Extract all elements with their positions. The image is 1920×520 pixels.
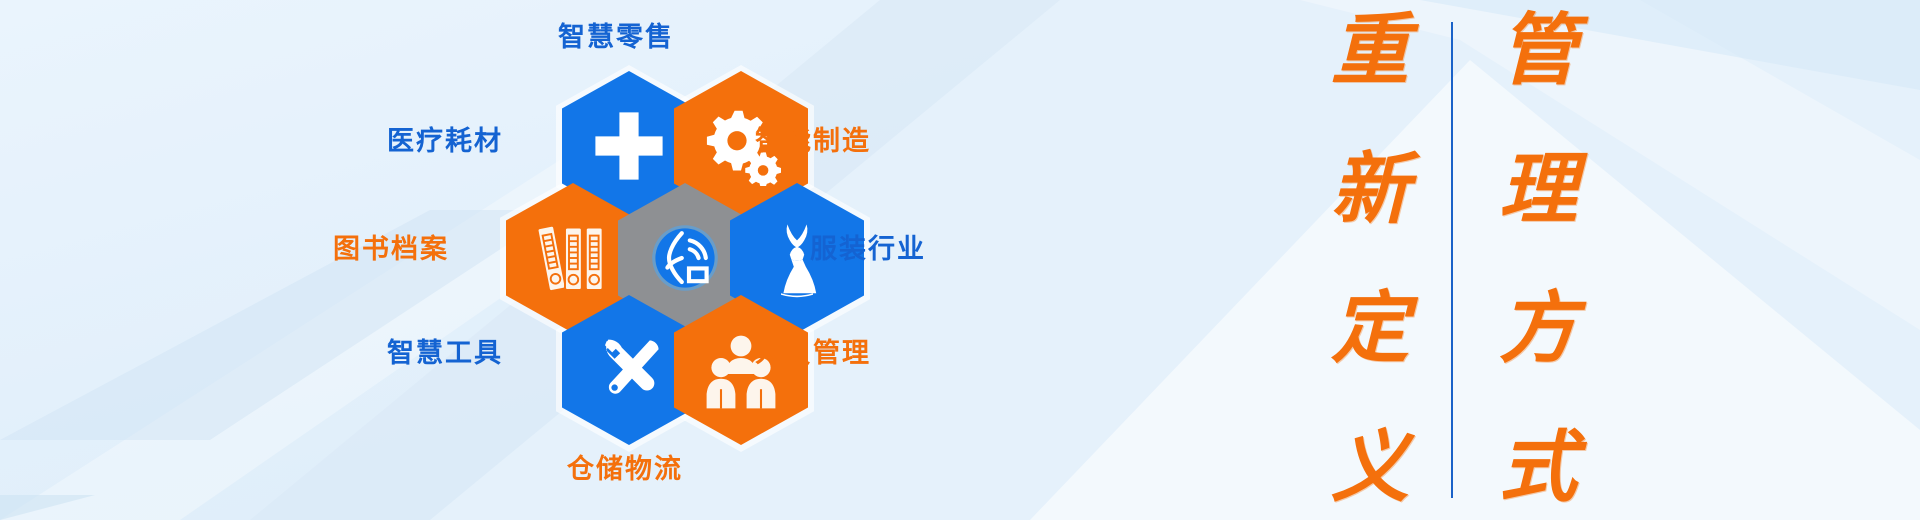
medical-cross-icon — [589, 106, 669, 186]
calligraphy-column-left: 重 新 定 义 — [1304, 14, 1436, 506]
tools-icon — [589, 330, 669, 410]
label-manufacture: 智能制造 — [755, 128, 871, 155]
background-shapes-svg — [0, 0, 1920, 520]
industry-hexagon-cluster: 智慧零售 智能制造 服装行业 人员管理 仓储物流 智慧工具 图书档案 医疗耗材 — [455, 38, 915, 488]
label-archives: 图书档案 — [333, 236, 449, 263]
calligraphy-char: 管 — [1499, 14, 1577, 89]
calligraphy-char: 理 — [1499, 153, 1577, 228]
calligraphy-divider — [1451, 22, 1453, 498]
label-warehouse: 仓储物流 — [567, 456, 683, 483]
calligraphy-char: 式 — [1499, 431, 1577, 506]
calligraphy-char: 方 — [1499, 292, 1577, 367]
calligraphy-char: 重 — [1331, 14, 1409, 89]
label-personnel: 人员管理 — [755, 340, 871, 367]
label-apparel: 服装行业 — [810, 236, 926, 263]
calligraphy-char: 义 — [1331, 431, 1409, 506]
label-smart-tools: 智慧工具 — [387, 340, 503, 367]
brand-logo-icon — [645, 218, 725, 298]
label-medical: 医疗耗材 — [387, 128, 503, 155]
background-decoration — [0, 0, 1920, 520]
binders-icon — [533, 218, 613, 298]
calligraphy-char: 定 — [1331, 292, 1409, 367]
calligraphy-block: 重 新 定 义 管 理 方 式 — [1290, 0, 1620, 520]
calligraphy-char: 新 — [1331, 153, 1409, 228]
label-retail: 智慧零售 — [558, 24, 674, 51]
calligraphy-column-right: 管 理 方 式 — [1472, 14, 1604, 506]
banner-stage: 智慧零售 智能制造 服装行业 人员管理 仓储物流 智慧工具 图书档案 医疗耗材 … — [0, 0, 1920, 520]
